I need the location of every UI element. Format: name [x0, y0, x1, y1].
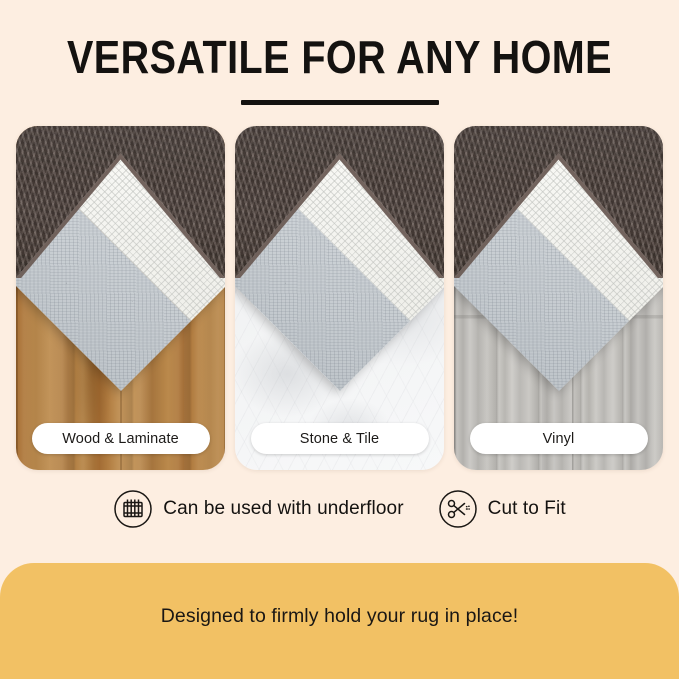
floor-panel-stone[interactable]: Stone & Tile — [235, 126, 444, 470]
page-header: VERSATILE FOR ANY HOME — [0, 0, 679, 105]
floor-panel-label-text: Wood & Laminate — [62, 431, 179, 447]
floor-panel-label-text: Vinyl — [543, 431, 575, 447]
floor-panel-label-vinyl: Vinyl — [470, 423, 648, 454]
feature-underfloor-heating: Can be used with underfloor — [113, 489, 403, 529]
title-underline-rule — [241, 100, 439, 105]
bottom-banner: Designed to firmly hold your rug in plac… — [0, 563, 679, 679]
floor-panel-label-text: Stone & Tile — [300, 431, 379, 447]
feature-underfloor-heating-label: Can be used with underfloor — [163, 498, 403, 520]
floor-panel-wood[interactable]: Wood & Laminate — [16, 126, 225, 470]
bottom-banner-text: Designed to firmly hold your rug in plac… — [161, 605, 519, 628]
underfloor-heating-icon — [113, 489, 153, 529]
floor-panel-label-wood: Wood & Laminate — [32, 423, 210, 454]
feature-row: Can be used with underfloor Cut to Fit — [0, 489, 679, 529]
floor-type-panels: Wood & Laminate Stone & Tile Vinyl — [16, 126, 663, 470]
feature-cut-to-fit: Cut to Fit — [438, 489, 566, 529]
page-title: VERSATILE FOR ANY HOME — [48, 34, 632, 80]
scissors-cut-icon — [438, 489, 478, 529]
floor-panel-vinyl[interactable]: Vinyl — [454, 126, 663, 470]
floor-panel-label-stone: Stone & Tile — [251, 423, 429, 454]
feature-cut-to-fit-label: Cut to Fit — [488, 498, 566, 520]
